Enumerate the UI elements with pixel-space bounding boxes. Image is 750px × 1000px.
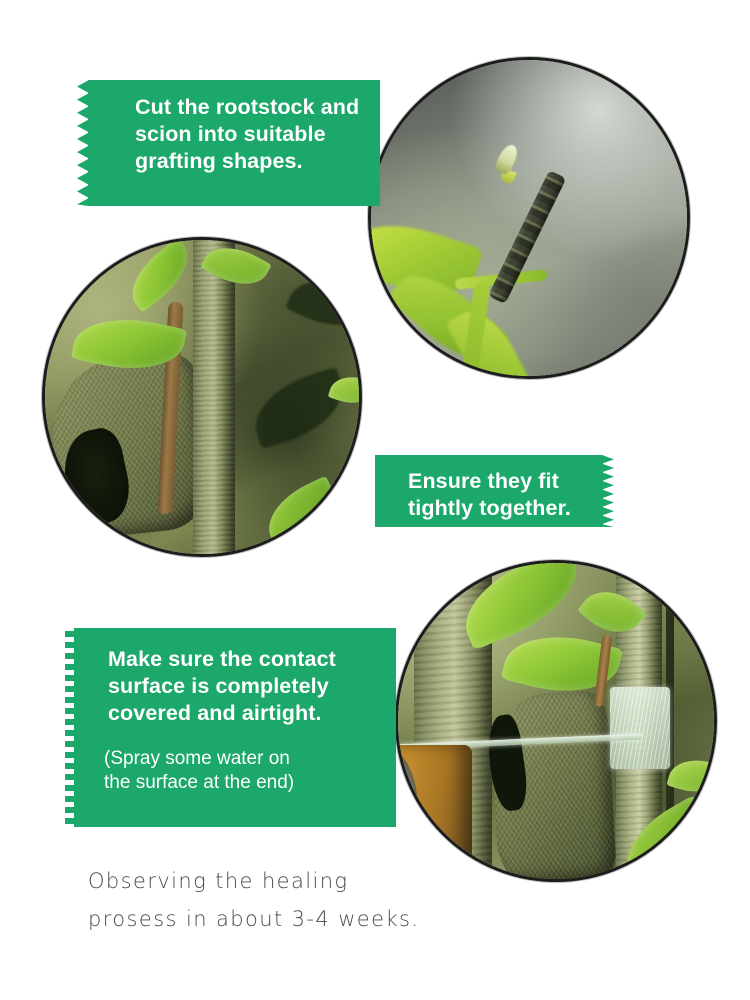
step-banner-cover-text: Make sure the contact surface is complet… xyxy=(108,646,336,727)
rootstock-branch-shape xyxy=(193,240,235,554)
torn-edge-zigzag-right xyxy=(602,455,614,527)
grafting-tape-wrap-shape xyxy=(610,687,670,769)
grafting-infographic: Cut the rootstock and scion into suitabl… xyxy=(0,0,750,1000)
leaf-shadow-shape xyxy=(285,266,359,340)
wrapped-graft-photo-inner xyxy=(398,563,714,879)
leaf-shape xyxy=(119,240,201,313)
wrapped-graft-photo xyxy=(395,560,717,882)
step-banner-cut-text: Cut the rootstock and scion into suitabl… xyxy=(135,94,359,175)
fitted-graft-photo-inner xyxy=(45,240,359,554)
leaf-shadow-shape xyxy=(245,367,354,450)
torn-edge-zigzag-left xyxy=(77,80,89,206)
fitted-graft-photo xyxy=(42,237,362,557)
prepared-scion-photo-inner xyxy=(371,60,687,376)
healing-note: Observing the healing prosess in about 3… xyxy=(88,862,508,938)
step-banner-cut: Cut the rootstock and scion into suitabl… xyxy=(88,80,380,206)
cut-tip-shape xyxy=(493,142,521,176)
step-banner-cover: Make sure the contact surface is complet… xyxy=(74,628,396,827)
step-banner-fit-text: Ensure they fit tightly together. xyxy=(408,468,571,522)
leaf-shape xyxy=(257,476,345,549)
step-banner-cover-subtext: (Spray some water on the surface at the … xyxy=(104,747,294,795)
perforated-edge-left xyxy=(65,631,75,824)
grafted-twig-shape xyxy=(488,170,566,304)
step-banner-fit: Ensure they fit tightly together. xyxy=(375,455,603,527)
prepared-scion-photo xyxy=(368,57,690,379)
